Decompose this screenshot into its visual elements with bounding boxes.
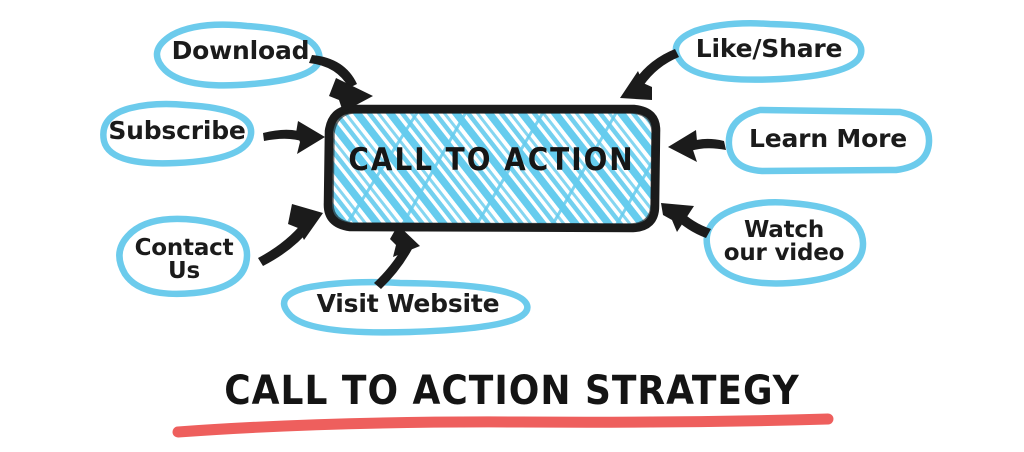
connector-subscribe-arrow: [263, 121, 325, 154]
label-watch-video: Watch our video: [707, 219, 861, 265]
label-visit-website: Visit Website: [288, 291, 528, 317]
label-like-share: Like/Share: [680, 36, 858, 62]
connector-contact-arrow: [258, 204, 323, 266]
label-subscribe: Subscribe: [102, 118, 252, 144]
title-underline: [178, 419, 828, 432]
connector-watch-video-arrow: [661, 203, 711, 238]
page-title: CALL TO ACTION STRATEGY: [176, 368, 848, 414]
connector-like-share-arrow: [620, 49, 679, 100]
label-download: Download: [163, 38, 318, 64]
diagram-canvas: CALL TO ACTION Download Subscribe Contac…: [0, 0, 1024, 452]
center-node-label: CALL TO ACTION: [328, 142, 655, 178]
label-contact-us: Contact Us: [122, 237, 246, 283]
connector-download-arrow: [309, 55, 373, 112]
label-learn-more: Learn More: [730, 126, 926, 152]
connector-visit-arrow: [374, 225, 420, 289]
connector-learn-more-arrow: [668, 130, 726, 162]
